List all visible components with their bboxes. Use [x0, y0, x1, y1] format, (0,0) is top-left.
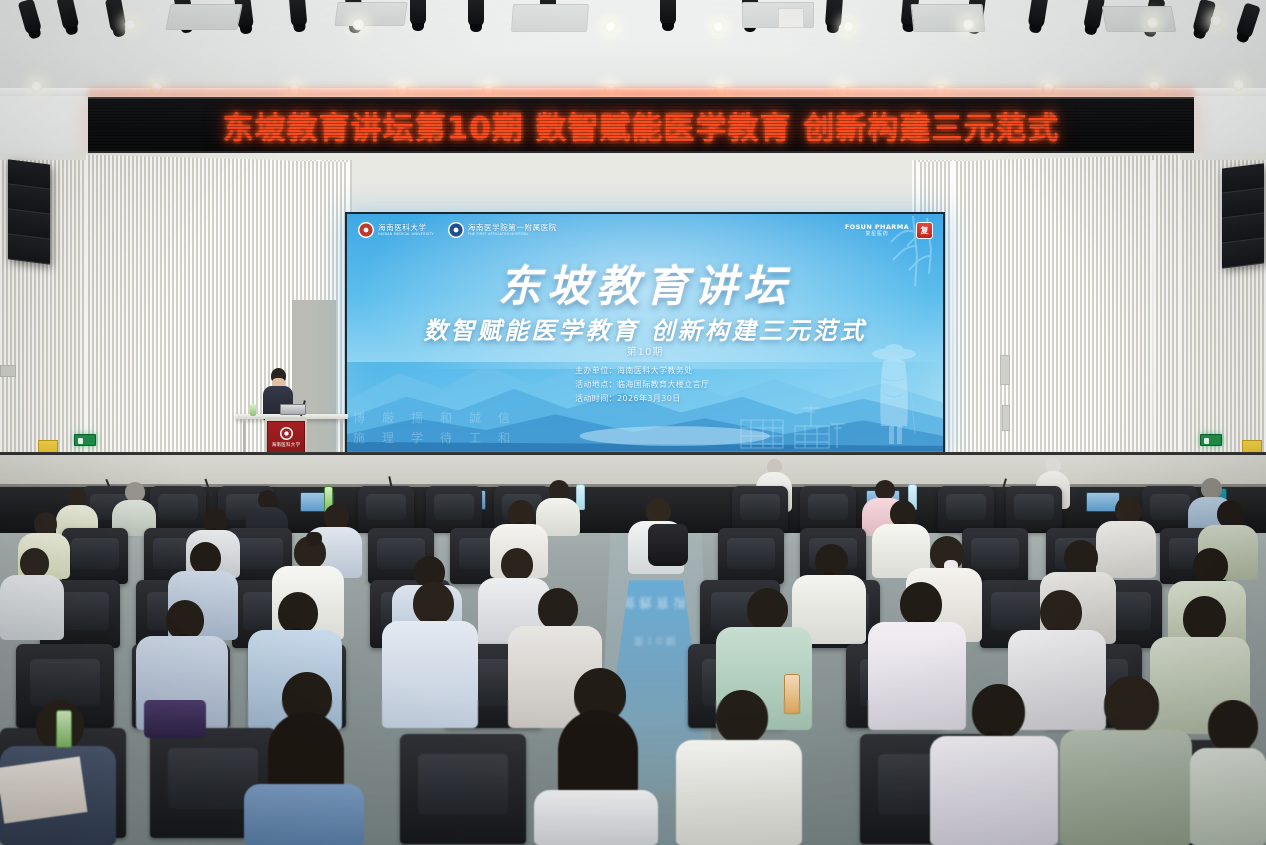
host-logo-en: HAINAN MEDICAL UNIVERSITY	[378, 233, 434, 236]
host-logo-en: THE FIRST AFFILIATED HOSPITAL	[468, 233, 557, 236]
calligraphy-glyph: 信	[498, 409, 510, 426]
downlight-icon	[1210, 14, 1223, 27]
attendee-head	[1104, 676, 1159, 733]
attendee-head	[1183, 596, 1226, 641]
wall-seam	[118, 160, 120, 488]
meta-location: 活动地点：临海国际教育大楼立言厅	[575, 378, 709, 392]
stage-spotlight-icon	[825, 0, 843, 29]
attendee-body	[244, 784, 364, 845]
attendee-body	[382, 621, 478, 728]
downlight-icon	[604, 20, 617, 33]
chair	[800, 486, 856, 532]
sponsor-name-cn: 复星医药	[865, 232, 888, 237]
exit-sign-icon	[1200, 434, 1222, 446]
host-logo-cn: 海南医科大学	[378, 224, 434, 232]
host-logo: 海南医科大学 HAINAN MEDICAL UNIVERSITY	[358, 222, 434, 238]
blue-seal-icon	[448, 222, 464, 238]
lectern-laptop	[280, 404, 306, 415]
chair	[732, 486, 788, 532]
chair	[1006, 486, 1062, 532]
wall-access-panel	[1000, 355, 1010, 385]
red-seal-icon	[358, 222, 374, 238]
attendee-head	[538, 588, 578, 630]
chair	[718, 528, 784, 584]
calligraphy-glyph: 誠	[469, 409, 481, 426]
water-bottle	[56, 710, 72, 748]
audience-member	[0, 548, 64, 640]
downlight-icon	[1146, 16, 1159, 29]
right-wall-inner-panel	[918, 155, 1180, 484]
audience-member	[1060, 676, 1192, 845]
calligraphy-glyph: 待	[440, 429, 452, 446]
handbag	[144, 700, 206, 738]
lectern-bottle	[250, 404, 256, 416]
meta-datetime: 活动时间：2026年3月30日	[575, 392, 709, 406]
attendee-body	[0, 575, 64, 640]
attendee-body	[930, 736, 1058, 845]
stage-spotlight-icon	[468, 0, 484, 27]
ceiling-panel	[511, 4, 589, 32]
screen-subtitle: 数智赋能医学教育 创新构建三元范式	[347, 311, 943, 346]
ceiling-panel	[334, 2, 407, 26]
chair	[358, 486, 414, 532]
attendee-head	[1115, 496, 1142, 524]
ceiling-panel	[165, 4, 243, 30]
attendee-body	[676, 740, 802, 845]
wall-speaker-box	[0, 365, 16, 377]
sponsor-mark-icon: 复	[916, 222, 933, 239]
attendee-head	[875, 480, 895, 500]
exit-sign-icon	[74, 434, 96, 446]
screen-host-logos: 海南医科大学 HAINAN MEDICAL UNIVERSITY 海南医学院第一…	[358, 222, 557, 238]
presentation-screen: 海南医科大学 HAINAN MEDICAL UNIVERSITY 海南医学院第一…	[345, 212, 945, 454]
attendee-body	[1060, 730, 1192, 845]
calligraphy-glyph: 博	[353, 409, 365, 426]
city-skyline-illustration	[737, 398, 857, 450]
audience-member	[676, 690, 802, 845]
downlight-icon	[124, 18, 137, 31]
attendee-head	[1064, 540, 1098, 575]
stage-spotlight-icon	[660, 0, 676, 26]
wall-access-panel	[1002, 405, 1010, 431]
calligraphy-glyph: 工	[469, 429, 481, 446]
backpack	[648, 524, 688, 566]
audience-member	[382, 582, 478, 728]
attendee-body	[1190, 748, 1266, 845]
line-array-speaker	[1222, 163, 1264, 268]
downlight-icon	[962, 18, 975, 31]
wall-seam	[1152, 160, 1154, 488]
ceiling-panel	[911, 4, 986, 32]
led-banner: 东坡教育讲坛第10期 数智赋能医学教育 创新构建三元范式	[88, 97, 1194, 153]
chair	[400, 734, 526, 844]
audience-member	[244, 672, 364, 845]
audience-member	[112, 482, 156, 534]
led-banner-text: 东坡教育讲坛第10期 数智赋能医学教育 创新构建三元范式	[88, 99, 1194, 151]
university-emblem-icon	[280, 427, 293, 440]
screen-calligraphy-watermark: 博 厳 揚 和 誠 信 施 理 学 待 工 和	[353, 409, 510, 446]
attendee-head	[972, 684, 1025, 739]
ceiling-panel	[1102, 6, 1177, 32]
stage-spotlight-icon	[410, 0, 426, 26]
screen-event-meta: 主办单位：海南医科大学教务处 活动地点：临海国际教育大楼立言厅 活动时间：202…	[575, 364, 709, 406]
attendee-head	[549, 480, 569, 500]
podium-banner-text: 海南医科大学	[272, 442, 301, 448]
calligraphy-glyph: 施	[353, 429, 365, 446]
hair-bun	[306, 532, 322, 546]
attendee-head	[1217, 500, 1244, 528]
wall-seam	[952, 160, 954, 460]
chair	[62, 528, 128, 584]
attendee-head	[716, 690, 768, 744]
sponsor-name-en: FOSUN PHARMA	[845, 224, 909, 231]
attendee-head	[1208, 700, 1258, 752]
attendee-head	[1193, 548, 1228, 584]
document-paper	[0, 756, 87, 823]
host-logo: 海南医学院第一附属医院 THE FIRST AFFILIATED HOSPITA…	[448, 222, 557, 238]
calligraphy-glyph: 厳	[382, 409, 394, 426]
downlight-icon	[352, 18, 365, 31]
downlight-icon	[30, 80, 43, 93]
downlight-icon	[712, 20, 725, 33]
audience-member	[534, 668, 658, 845]
audience-member	[930, 684, 1058, 845]
host-logo-cn: 海南医学院第一附属医院	[468, 224, 557, 232]
calligraphy-glyph: 学	[411, 429, 423, 446]
calligraphy-glyph: 和	[498, 429, 510, 446]
downlight-icon	[842, 20, 855, 33]
calligraphy-glyph: 和	[440, 409, 452, 426]
attendee-head	[20, 548, 49, 578]
attendee-head	[747, 588, 788, 631]
screen-title: 东坡教育讲坛	[347, 252, 943, 314]
attendee-head	[125, 482, 145, 502]
chair	[938, 486, 994, 532]
calligraphy-glyph: 揚	[411, 409, 423, 426]
attendee-head	[501, 548, 533, 581]
screen-sponsor-logos: FOSUN PHARMA 复星医药 复	[845, 222, 933, 239]
attendee-body	[534, 790, 658, 845]
calligraphy-glyph: 理	[382, 429, 394, 446]
stage-spotlight-icon	[289, 0, 308, 28]
ceiling-vent	[778, 8, 804, 28]
water-bottle	[784, 674, 800, 714]
screen-issue-number: 第10期	[347, 343, 943, 358]
lecture-hall-photo: 东坡教育讲坛第10期 数智赋能医学教育 创新构建三元范式	[0, 0, 1266, 845]
downlight-icon	[1232, 78, 1245, 91]
meta-organizer: 主办单位：海南医科大学教务处	[575, 364, 709, 378]
chair	[426, 486, 482, 532]
line-array-speaker	[8, 159, 50, 264]
audience-member	[1190, 700, 1266, 845]
attendee-head	[1201, 478, 1222, 499]
